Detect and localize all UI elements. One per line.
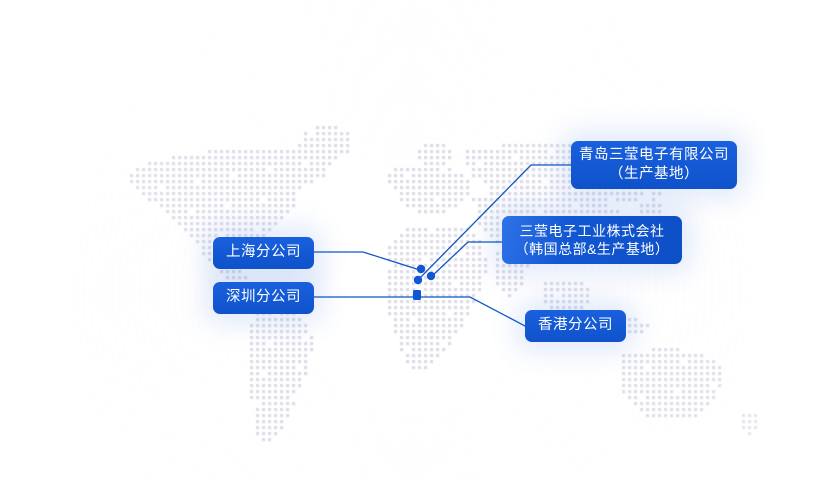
label-korea-line1: 三莹电子工业株式会社 [520,222,665,240]
label-qingdao-line1: 青岛三莹电子有限公司 [579,146,729,165]
label-qingdao-line2: （生产基地） [609,165,699,184]
label-shanghai-line1: 上海分公司 [226,243,301,262]
world-map-figure: 青岛三莹电子有限公司 （生产基地） 三莹电子工业株式会社 （韩国总部&生产基地）… [0,0,824,480]
label-box-shanghai[interactable]: 上海分公司 [213,237,314,269]
label-box-shenzhen[interactable]: 深圳分公司 [213,282,314,314]
dotted-world-map [0,0,824,480]
label-shenzhen-line1: 深圳分公司 [226,288,301,307]
label-korea-line2: （韩国总部&生产基地） [515,240,670,258]
label-box-korea[interactable]: 三莹电子工业株式会社 （韩国总部&生产基地） [502,216,682,264]
label-hongkong-line1: 香港分公司 [538,316,613,335]
label-box-qingdao[interactable]: 青岛三莹电子有限公司 （生产基地） [571,141,737,189]
label-box-hongkong[interactable]: 香港分公司 [525,310,626,342]
world-map-canvas [0,0,824,480]
